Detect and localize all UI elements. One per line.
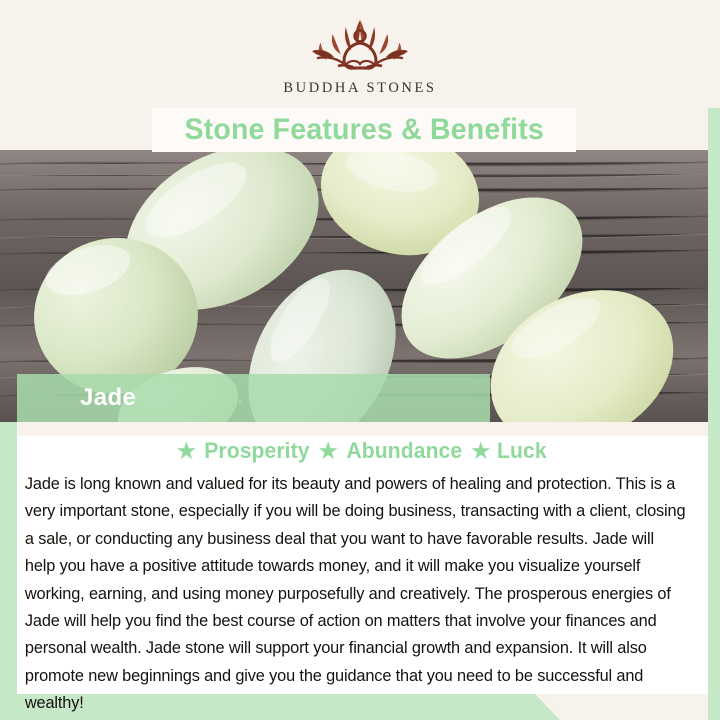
title-band: Stone Features & Benefits (152, 108, 576, 152)
page-title: Stone Features & Benefits (184, 113, 544, 147)
keyword-label: Abundance (346, 438, 462, 464)
photo-caption-band: Jade (17, 374, 490, 422)
content-top-divider (17, 422, 708, 436)
stone-name-label: Jade (80, 384, 136, 412)
keyword-list: ★ Prosperity ★ Abundance ★ Luck (17, 438, 708, 464)
stone-info-card: BUDDHA STONES Stone Features & Benefits (0, 0, 720, 720)
keyword-label: Prosperity (204, 438, 309, 464)
keyword-luck: ★ Luck (471, 438, 548, 464)
content-panel: ★ Prosperity ★ Abundance ★ Luck Jade is … (17, 422, 708, 694)
keyword-prosperity: ★ Prosperity (177, 438, 312, 464)
star-icon: ★ (319, 441, 338, 462)
star-icon: ★ (471, 441, 490, 462)
star-icon: ★ (177, 441, 196, 462)
stone-description: Jade is long known and valued for its be… (17, 470, 698, 717)
lotus-meditation-icon (296, 14, 424, 76)
keyword-label: Luck (497, 438, 547, 464)
brand-header: BUDDHA STONES (0, 0, 720, 108)
decor-frame-right (708, 16, 720, 720)
brand-name: BUDDHA STONES (283, 80, 436, 97)
keyword-abundance: ★ Abundance (319, 438, 465, 464)
